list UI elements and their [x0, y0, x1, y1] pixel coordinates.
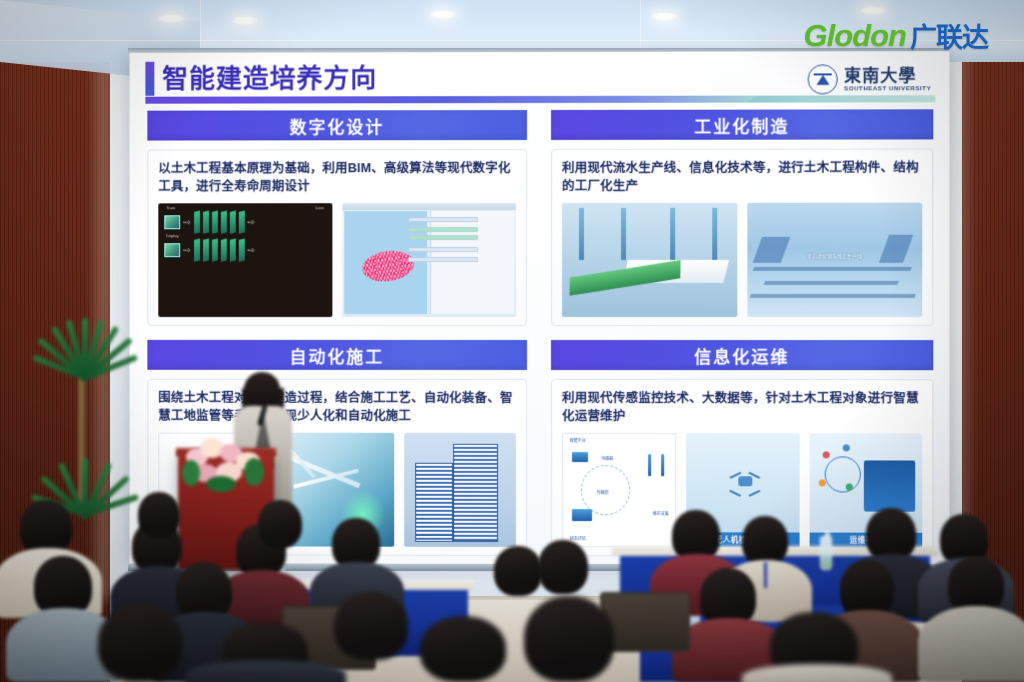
page-title: 智能建造培养方向: [162, 60, 377, 96]
audience-shoulders: [918, 606, 1024, 682]
university-name-cn: 東南大學: [844, 67, 931, 84]
card-description: 围绕土木工程对象的建造过程，结合施工工艺、自动化装备、智慧工地监管等手段，实现少…: [158, 389, 516, 425]
card-heading: 信息化运维: [551, 340, 933, 370]
ceiling-downlight: [860, 6, 886, 15]
card-heading: 数字化设计: [147, 110, 527, 141]
audience-head: [258, 500, 302, 548]
thumb-caption: 全自动化钢筋加工生产线: [807, 253, 862, 260]
ceiling-downlight: [232, 16, 258, 25]
audience-head: [494, 546, 542, 596]
ceiling-downlight: [652, 12, 678, 21]
conference-room-photo: Glodon 广联达 智能建造培养方向 東南大學 SOUTHEAST UNIVE…: [0, 0, 1024, 682]
audience-head: [138, 492, 180, 538]
card-body: 利用现代流水生产线、信息化技术等，进行土木工程构件、结构的工厂化生产: [551, 148, 933, 326]
university-name-en: SOUTHEAST UNIVERSITY: [844, 86, 931, 92]
audience-head: [420, 616, 506, 682]
card-description: 以土木工程基本原理为基础，利用BIM、高级算法等现代数字化工具，进行全寿命周期设…: [158, 159, 516, 195]
water-bottle: [820, 536, 832, 570]
southeast-university-logo: 東南大學 SOUTHEAST UNIVERSITY: [808, 61, 931, 97]
audience-head: [334, 592, 408, 660]
ceiling-downlight: [158, 14, 184, 23]
neural-network-diagram-thumb: ⇨ ⇨ ⇨ ⇨: [158, 203, 332, 317]
smart-factory-interior-thumb: 全自动化钢筋加工生产线: [747, 203, 922, 317]
title-accent-bar: [145, 62, 154, 96]
card-industrial-manufacturing: 工业化制造 利用现代流水生产线、信息化技术等，进行土木工程构件、结构的工厂化生产: [551, 109, 933, 326]
audience-head: [742, 516, 788, 566]
sensing-monitoring-diagram-thumb: 智能平台 传感器 传输层 维护决策 状态评估: [562, 433, 676, 547]
ceiling-downlight: [430, 10, 456, 19]
card-heading: 工业化制造: [551, 109, 933, 140]
audience-head: [538, 540, 588, 594]
title-underline-bar: [145, 95, 935, 103]
card-description: 利用现代传感监控技术、大数据等，针对土木工程对象进行智慧化运营维护: [562, 389, 922, 425]
card-body: 以土木工程基本原理为基础，利用BIM、高级算法等现代数字化工具，进行全寿命周期设…: [147, 149, 527, 326]
attendee-lanyard: [764, 562, 767, 588]
card-thumbnails: ⇨ ⇨ ⇨ ⇨: [158, 203, 516, 317]
audience-shoulders: [742, 664, 892, 682]
precast-conveyor-line-thumb: [562, 203, 737, 317]
card-heading: 自动化施工: [147, 340, 527, 370]
audience-shoulders: [186, 660, 346, 682]
university-seal-icon: [808, 64, 838, 94]
glodon-logo-latin: Glodon: [804, 18, 906, 54]
card-description: 利用现代流水生产线、信息化技术等，进行土木工程构件、结构的工厂化生产: [562, 159, 922, 195]
glodon-logo-chinese: 广联达: [910, 16, 988, 55]
high-rise-building-thumb: [404, 433, 516, 547]
glodon-logo: Glodon 广联达: [804, 16, 988, 55]
card-thumbnails: 全自动化钢筋加工生产线: [562, 203, 922, 317]
audience-head: [98, 604, 182, 682]
card-digital-design: 数字化设计 以土木工程基本原理为基础，利用BIM、高级算法等现代数字化工具，进行…: [147, 110, 527, 326]
cad-mesh-modeling-thumb: [342, 203, 516, 317]
audience-head: [524, 596, 614, 682]
floral-arrangement: [182, 434, 274, 492]
